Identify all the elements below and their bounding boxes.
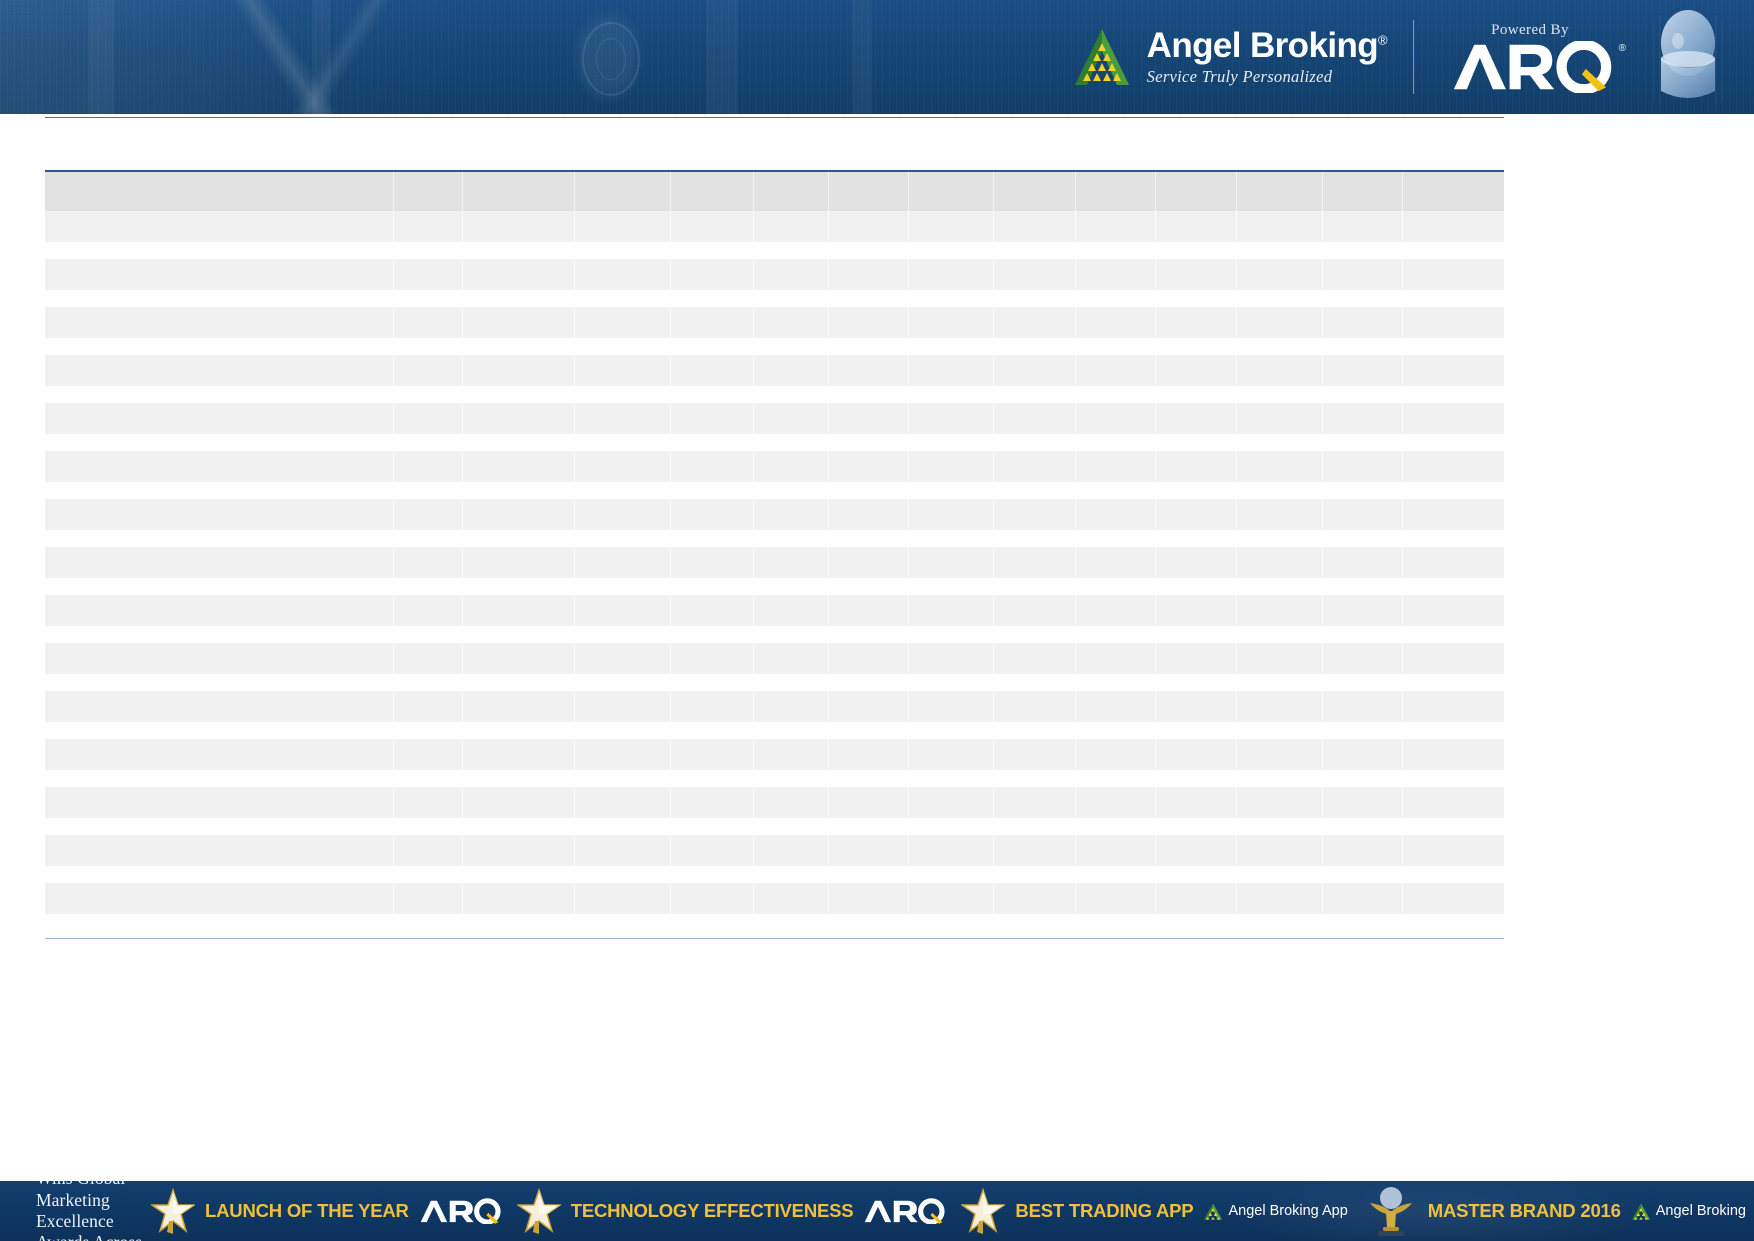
table-row[interactable] [45,211,1504,242]
table-cell [1403,211,1504,242]
table-cell-spacer [1403,482,1504,499]
table-cell-spacer [1156,578,1236,595]
table-row-spacer [45,338,1504,355]
table-row[interactable] [45,307,1504,338]
table-cell [671,691,754,722]
table-cell-spacer [909,578,994,595]
table-cell-spacer [753,722,828,739]
table-cell-spacer [1075,818,1155,835]
table-cell [1322,547,1402,578]
table-cell-spacer [1236,722,1322,739]
table-cell [828,739,908,770]
table-cell-spacer [1156,290,1236,307]
table-cell-spacer [1236,770,1322,787]
table-cell [394,451,463,482]
table-cell [753,307,828,338]
table-cell-spacer [994,290,1076,307]
table-row[interactable] [45,259,1504,290]
table-cell-spacer [1403,578,1504,595]
table-cell-spacer [1403,434,1504,451]
table-cell [994,403,1076,434]
table-cell [828,595,908,626]
table-cell [462,739,574,770]
table-cell-spacer [909,770,994,787]
table-cell [828,259,908,290]
table-cell [394,787,463,818]
table-cell-spacer [1322,770,1402,787]
table-cell [1322,403,1402,434]
table-cell [671,883,754,914]
table-cell [828,451,908,482]
table-cell [1236,259,1322,290]
table-cell-spacer [394,770,463,787]
table-cell-spacer [394,434,463,451]
table-cell-spacer [1156,386,1236,403]
footer-awards-banner: Angel Broking Wins Global Marketing Exce… [0,1181,1754,1241]
table-cell [45,883,394,914]
brand-name: Angel Broking® [1147,28,1387,63]
header-banner: Angel Broking® Service Truly Personalize… [0,0,1754,114]
table-cell-spacer [909,530,994,547]
table-cell-spacer [462,722,574,739]
table-row-spacer [45,434,1504,451]
table-cell-spacer [574,866,671,883]
table-row[interactable] [45,403,1504,434]
table-cell-spacer [1322,434,1402,451]
table-cell-spacer [45,578,394,595]
table-cell-spacer [828,578,908,595]
table-cell-spacer [394,866,463,883]
table-cell [1403,259,1504,290]
table-cell-spacer [1403,674,1504,691]
table-cell-spacer [828,770,908,787]
table-cell-spacer [45,818,394,835]
table-cell-spacer [671,770,754,787]
table-cell [1322,787,1402,818]
arq-robot-head-icon [1640,5,1736,109]
table-cell-spacer [1403,818,1504,835]
table-cell-spacer [753,626,828,643]
footer-award-badge: LAUNCH OF THE YEAR [143,1188,509,1234]
table-cell [1403,691,1504,722]
table-cell [462,835,574,866]
footer-award-headline: Angel Broking Wins Global Marketing Exce… [0,1181,143,1241]
table-cell [994,787,1076,818]
table-cell [1403,547,1504,578]
table-row[interactable] [45,595,1504,626]
table-cell [1236,883,1322,914]
angel-broking-triangle-logo-icon [1071,27,1133,87]
table-cell-spacer [828,626,908,643]
table-row[interactable] [45,547,1504,578]
table-cell [828,643,908,674]
table-cell-spacer [753,866,828,883]
table-cell [828,547,908,578]
table-cell-spacer [394,626,463,643]
table-cell [394,595,463,626]
table-cell [1322,883,1402,914]
table-cell-spacer [1322,866,1402,883]
table-cell [1236,595,1322,626]
table-header [45,171,1504,211]
table-row[interactable] [45,499,1504,530]
table-cell [753,259,828,290]
table-cell [394,211,463,242]
table-cell [1403,883,1504,914]
table-cell-spacer [1403,386,1504,403]
table-cell-spacer [462,770,574,787]
table-cell [574,259,671,290]
table-row[interactable] [45,643,1504,674]
table-cell [1322,499,1402,530]
footer-badge-label: MASTER BRAND 2016 [1428,1200,1621,1222]
table-cell [1322,259,1402,290]
footer-badge-angel-logo: Angel Broking App [1203,1202,1347,1221]
table-cell [1156,835,1236,866]
table-cell [994,883,1076,914]
footer-badge-brand-text: Angel Broking [1656,1203,1746,1219]
table-cell [1403,595,1504,626]
table-cell [1075,259,1155,290]
table-cell-spacer [909,434,994,451]
table-cell [1075,355,1155,386]
table-cell [909,499,994,530]
table-cell-spacer [394,482,463,499]
table-cell-spacer [45,626,394,643]
table-cell-spacer [1156,242,1236,259]
table-cell-spacer [45,242,394,259]
table-cell [1075,307,1155,338]
table-cell [994,547,1076,578]
award-trophy-icon [1364,1185,1418,1237]
table-cell-spacer [45,770,394,787]
table-cell-spacer [909,818,994,835]
table-cell [462,883,574,914]
powered-by-label: Powered By [1491,22,1569,39]
angel-broking-triangle-logo-icon [1631,1202,1651,1221]
table-cell [574,451,671,482]
table-cell [574,547,671,578]
table-cell-spacer [909,338,994,355]
table-row[interactable] [45,691,1504,722]
table-cell-spacer [1236,578,1322,595]
table-cell-spacer [909,482,994,499]
table-cell [45,451,394,482]
table-cell [828,403,908,434]
header-diagonal-streak-secondary [180,0,480,114]
table-cell [1075,547,1155,578]
table-cell-spacer [1236,530,1322,547]
table-bottom-rule [45,938,1504,939]
table-cell-spacer [1075,674,1155,691]
table-cell-spacer [1403,770,1504,787]
table-cell-spacer [394,242,463,259]
table-cell [1322,691,1402,722]
table-cell-spacer [1403,722,1504,739]
data-table-container [45,170,1504,914]
footer-badge-arq-logo [863,1198,945,1224]
table-cell-spacer [1236,338,1322,355]
table-cell-spacer [671,434,754,451]
table-cell [1403,307,1504,338]
table-cell [1322,211,1402,242]
table-cell [1403,451,1504,482]
table-cell-spacer [671,482,754,499]
table-cell [394,883,463,914]
table-cell [671,547,754,578]
table-cell [1156,691,1236,722]
table-cell [671,451,754,482]
table-cell-spacer [1236,242,1322,259]
table-cell [671,835,754,866]
arq-logo: Powered By ® [1418,22,1634,93]
table-cell [574,307,671,338]
table-cell-spacer [671,722,754,739]
table-row-spacer [45,482,1504,499]
table-cell [45,403,394,434]
table-cell-spacer [462,866,574,883]
table-cell [753,547,828,578]
table-cell [394,835,463,866]
table-cell [1403,403,1504,434]
table-cell-spacer [462,530,574,547]
table-cell [828,883,908,914]
table-cell [574,787,671,818]
table-cell-spacer [394,578,463,595]
table-cell [671,595,754,626]
table-cell-spacer [574,770,671,787]
table-cell-spacer [1322,290,1402,307]
table-cell [1156,787,1236,818]
column-header [1322,171,1402,211]
table-row[interactable] [45,787,1504,818]
table-cell-spacer [753,530,828,547]
table-cell [671,307,754,338]
table-cell [394,691,463,722]
table-cell-spacer [45,866,394,883]
table-cell [462,547,574,578]
table-cell [394,355,463,386]
table-row-spacer [45,530,1504,547]
table-cell [394,643,463,674]
column-header [1403,171,1504,211]
table-row[interactable] [45,835,1504,866]
table-cell [1322,643,1402,674]
table-cell-spacer [1322,530,1402,547]
table-cell [909,595,994,626]
footer-badge-angel-logo: Angel Broking [1631,1202,1746,1221]
table-cell [1403,499,1504,530]
table-cell-spacer [1075,626,1155,643]
table-cell-spacer [1156,482,1236,499]
table-cell [1236,355,1322,386]
table-cell-spacer [753,338,828,355]
table-cell [994,451,1076,482]
table-cell [909,883,994,914]
table-cell-spacer [574,386,671,403]
table-cell [1075,835,1155,866]
column-header [1236,171,1322,211]
table-cell-spacer [828,290,908,307]
table-row[interactable] [45,355,1504,386]
table-cell-spacer [45,338,394,355]
table-cell [753,211,828,242]
table-cell-spacer [671,242,754,259]
column-header [574,171,671,211]
table-cell-spacer [1075,338,1155,355]
table-cell-spacer [1075,578,1155,595]
table-cell [574,643,671,674]
table-cell [1156,355,1236,386]
table-cell [574,403,671,434]
table-cell-spacer [994,482,1076,499]
table-cell-spacer [671,866,754,883]
table-cell-spacer [1075,242,1155,259]
table-cell-spacer [1075,290,1155,307]
table-cell [1075,451,1155,482]
table-cell-spacer [909,866,994,883]
table-cell-spacer [45,674,394,691]
table-cell [753,787,828,818]
table-cell-spacer [994,770,1076,787]
table-cell [45,691,394,722]
table-cell [909,739,994,770]
table-cell-spacer [394,818,463,835]
header-vertical-bar [706,0,738,114]
table-row[interactable] [45,451,1504,482]
table-cell [671,403,754,434]
table-cell [1075,691,1155,722]
table-cell [574,739,671,770]
table-cell [753,643,828,674]
table-cell [1236,739,1322,770]
table-cell [1075,787,1155,818]
table-cell [753,595,828,626]
table-cell-spacer [909,242,994,259]
table-cell-spacer [574,578,671,595]
table-cell-spacer [828,674,908,691]
table-cell [394,499,463,530]
table-cell [909,403,994,434]
column-header [462,171,574,211]
table-cell-spacer [753,482,828,499]
table-cell-spacer [1403,530,1504,547]
table-cell-spacer [1236,626,1322,643]
table-cell-spacer [1322,482,1402,499]
table-cell-spacer [1236,866,1322,883]
table-cell [462,355,574,386]
table-cell [45,211,394,242]
column-header [671,171,754,211]
table-cell [753,883,828,914]
table-cell [394,259,463,290]
table-cell-spacer [574,722,671,739]
table-row[interactable] [45,739,1504,770]
table-cell [994,643,1076,674]
table-cell-spacer [1322,386,1402,403]
table-cell-spacer [671,290,754,307]
table-cell-spacer [574,482,671,499]
table-cell [1156,403,1236,434]
table-cell-spacer [828,434,908,451]
table-cell [994,739,1076,770]
table-cell-spacer [574,290,671,307]
table-cell [1236,499,1322,530]
table-cell-spacer [462,338,574,355]
table-cell [1322,355,1402,386]
table-cell [671,211,754,242]
table-body [45,211,1504,914]
header-bottom-rule [45,117,1504,118]
table-cell [994,307,1076,338]
table-cell [1236,835,1322,866]
table-row-spacer [45,386,1504,403]
table-cell [753,355,828,386]
table-cell [1156,307,1236,338]
table-cell [1236,211,1322,242]
table-cell [994,499,1076,530]
table-cell [574,211,671,242]
table-cell-spacer [1156,866,1236,883]
table-cell-spacer [994,722,1076,739]
table-cell-spacer [1322,818,1402,835]
table-cell [45,547,394,578]
table-cell-spacer [828,338,908,355]
table-cell-spacer [994,578,1076,595]
table-cell-spacer [1075,434,1155,451]
table-cell [828,307,908,338]
table-cell [1075,499,1155,530]
table-cell-spacer [1075,482,1155,499]
table-cell [1156,547,1236,578]
header-vertical-bar [312,0,330,114]
column-header [394,171,463,211]
table-cell [1236,787,1322,818]
table-cell [1156,643,1236,674]
table-cell [45,307,394,338]
table-row-spacer [45,578,1504,595]
column-header [828,171,908,211]
table-cell-spacer [394,722,463,739]
footer-award-headline-line1: Angel Broking Wins Global Marketing [36,1181,143,1211]
angel-broking-wordmark: Angel Broking® Service Truly Personalize… [1147,28,1387,87]
table-cell [45,835,394,866]
data-table [45,170,1504,914]
table-cell [671,643,754,674]
table-cell [671,787,754,818]
table-cell-spacer [1156,770,1236,787]
angel-broking-triangle-logo-icon [1203,1202,1223,1221]
table-cell [909,835,994,866]
table-cell [1075,403,1155,434]
table-cell-spacer [1403,338,1504,355]
table-row[interactable] [45,883,1504,914]
table-cell [1403,643,1504,674]
table-cell-spacer [462,482,574,499]
table-cell-spacer [1156,674,1236,691]
table-cell-spacer [1322,338,1402,355]
table-cell-spacer [1403,866,1504,883]
table-cell [909,691,994,722]
table-cell-spacer [574,242,671,259]
table-cell [828,691,908,722]
table-cell [671,259,754,290]
table-cell-spacer [753,674,828,691]
table-cell-spacer [753,818,828,835]
table-row-spacer [45,866,1504,883]
table-cell [394,403,463,434]
brand-divider [1413,20,1414,94]
